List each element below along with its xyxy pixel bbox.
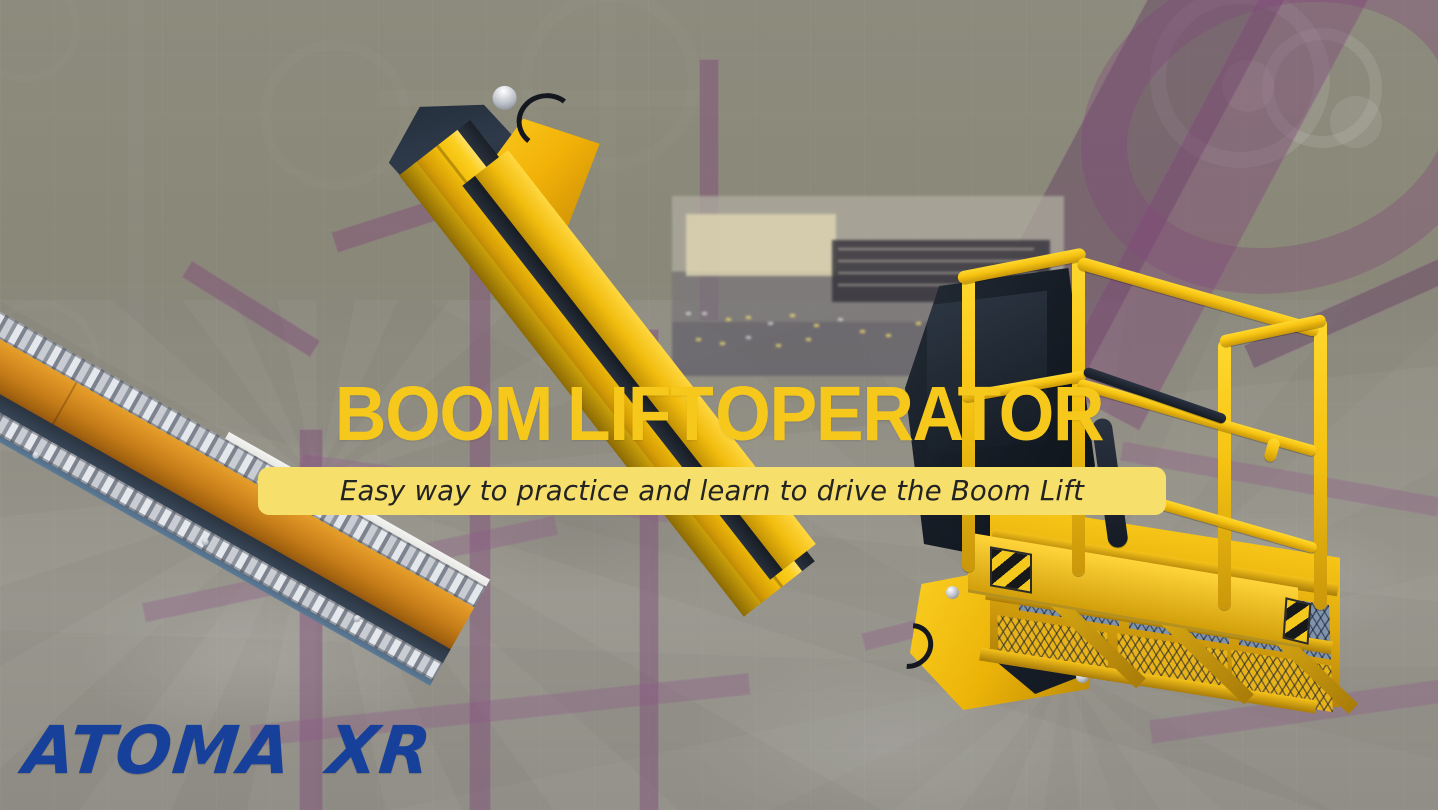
subtitle-banner: Easy way to practice and learn to drive … (258, 467, 1166, 515)
pivot-ball-icon (488, 82, 521, 115)
title-word-operator: OPERATOR (715, 371, 1103, 457)
promo-banner-stage: BOOMLIFTOPERATOR Easy way to practice an… (0, 0, 1438, 810)
page-title: BOOMLIFTOPERATOR (50, 378, 1387, 451)
guardrail-post (1314, 318, 1327, 610)
title-word-lift: LIFT (567, 371, 713, 457)
guardrail-top-bar (957, 247, 1087, 285)
title-word-boom: BOOM (335, 371, 552, 457)
brand-logo: ATOMAXR (20, 712, 435, 789)
logo-word-xr: XR (324, 712, 436, 789)
logo-word-atoma: ATOMA (20, 712, 296, 789)
boom-inner-section (453, 150, 816, 587)
hazard-stripe-decal (990, 546, 1032, 593)
subtitle-text: Easy way to practice and learn to drive … (340, 475, 1084, 507)
hazard-stripe-decal (1283, 597, 1312, 645)
